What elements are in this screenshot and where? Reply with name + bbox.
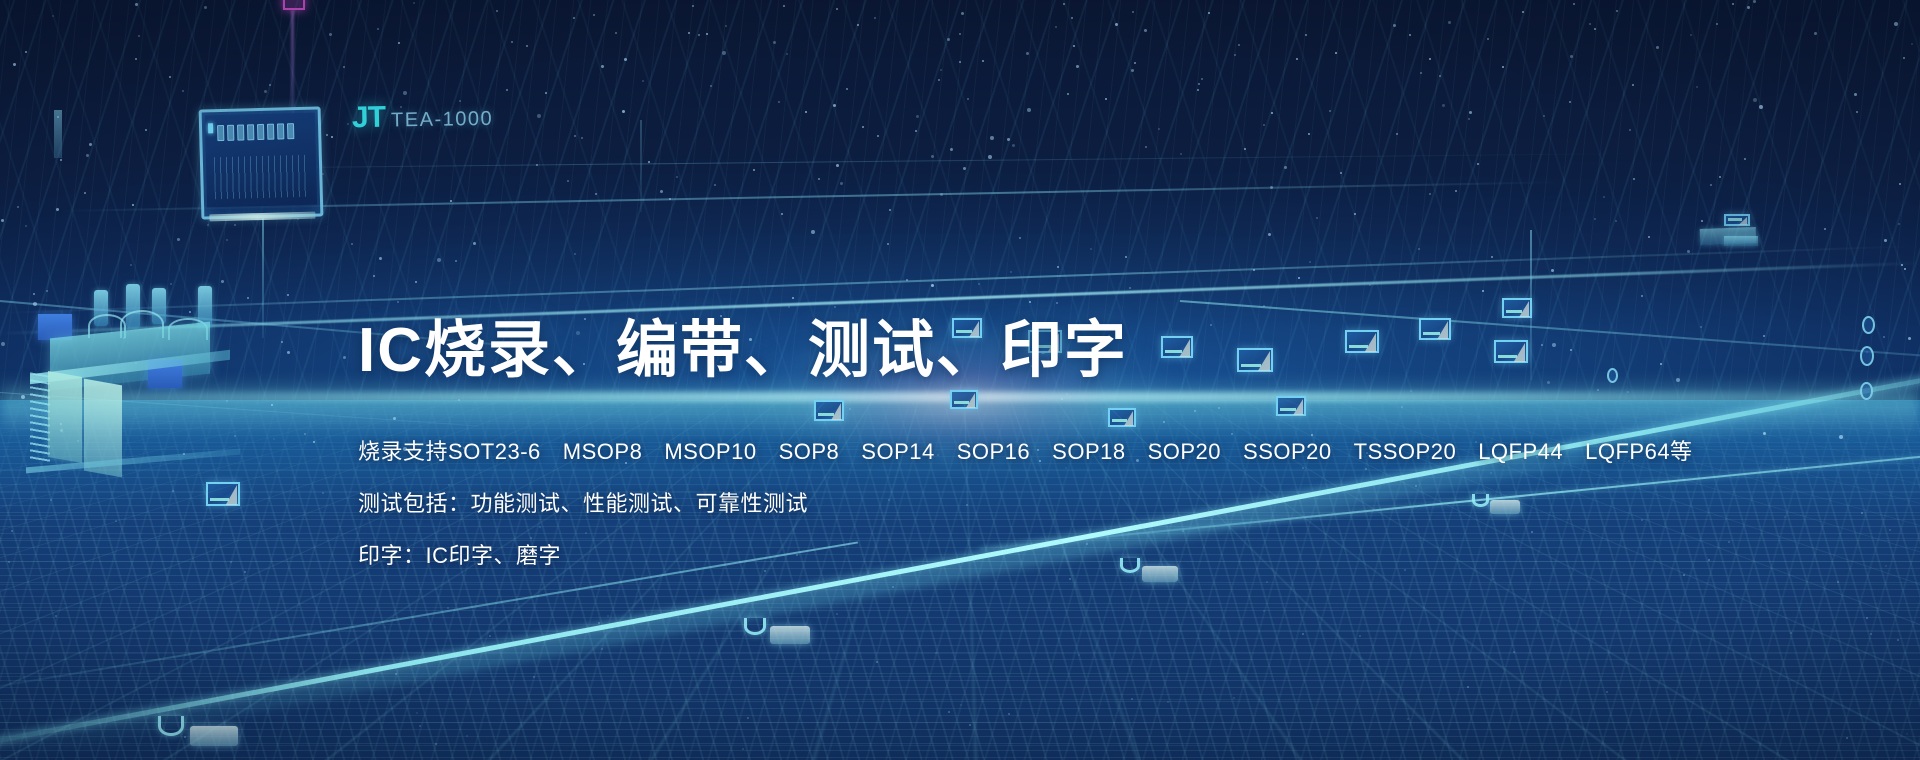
page-title: IC烧录、编带、测试、印字 xyxy=(358,318,1558,385)
banner-content: IC烧录、编带、测试、印字 烧录支持SOT23-6MSOP8MSOP10SOP8… xyxy=(358,318,1558,567)
package-tag: TSSOP20 xyxy=(1354,439,1457,464)
package-tag: SOP8 xyxy=(779,439,840,464)
ic-service-banner: JT TEA-1000 xyxy=(0,0,1920,760)
package-tag: SOP20 xyxy=(1148,439,1221,464)
package-tag: SOP16 xyxy=(957,439,1030,464)
service-line-test: 测试包括：功能测试、性能测试、可靠性测试 xyxy=(358,493,1558,515)
package-tag: SSOP20 xyxy=(1243,439,1332,464)
package-list: SOT23-6MSOP8MSOP10SOP8SOP14SOP16SOP18SOP… xyxy=(448,439,1693,464)
burn-prefix-label: 烧录支持 xyxy=(358,439,448,464)
package-tag: SOP14 xyxy=(861,439,934,464)
package-tag: SOT23-6 xyxy=(448,439,541,464)
package-tag: SOP18 xyxy=(1052,439,1125,464)
service-line-burn: 烧录支持SOT23-6MSOP8MSOP10SOP8SOP14SOP16SOP1… xyxy=(358,441,1558,463)
service-detail-list: 烧录支持SOT23-6MSOP8MSOP10SOP8SOP14SOP16SOP1… xyxy=(358,441,1558,567)
package-tag: LQFP44 xyxy=(1478,439,1563,464)
service-line-marking: 印字：IC印字、磨字 xyxy=(358,545,1558,567)
package-tag: MSOP8 xyxy=(563,439,643,464)
package-tag: MSOP10 xyxy=(664,439,756,464)
package-tag: LQFP64等 xyxy=(1585,439,1692,464)
